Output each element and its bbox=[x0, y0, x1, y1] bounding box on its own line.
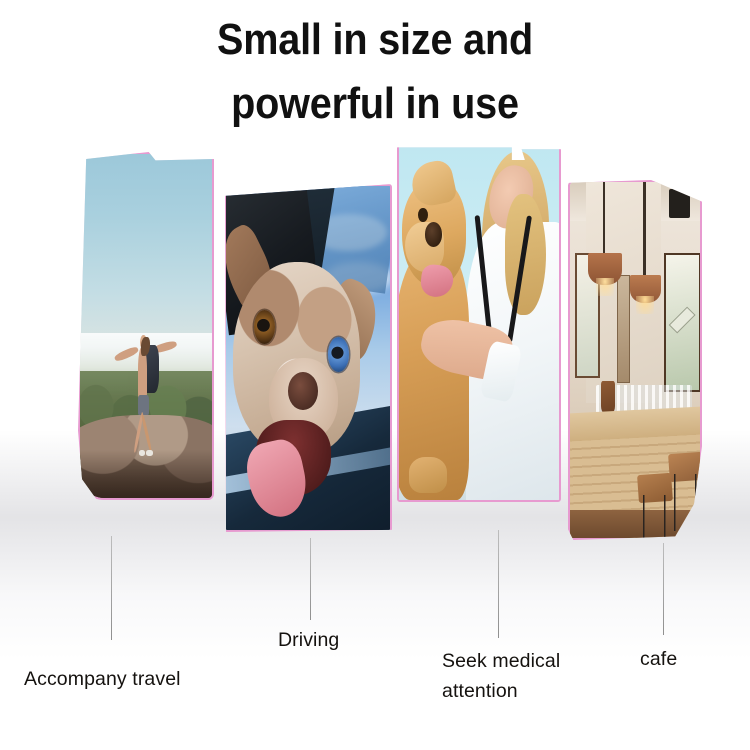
caption-accompany-travel: Accompany travel bbox=[24, 664, 181, 694]
promo-banner: Small in size and powerful in use bbox=[0, 0, 750, 750]
leader-line-accompany-travel bbox=[111, 536, 112, 640]
scene-mountain-hiker bbox=[80, 154, 212, 498]
scene-cafe-interior bbox=[570, 182, 700, 538]
panel-accompany-travel[interactable] bbox=[78, 152, 214, 500]
bar-stool-legs-icon bbox=[640, 495, 669, 538]
copper-jug-icon bbox=[601, 381, 615, 413]
caption-seek-medical-attention: Seek medical attention bbox=[442, 646, 560, 706]
scene-veterinarian bbox=[399, 144, 559, 500]
panel-driving[interactable] bbox=[224, 184, 392, 532]
pendant-cord-icon bbox=[643, 182, 646, 282]
dog-paw-icon bbox=[409, 457, 447, 493]
leader-line-seek-medical-attention bbox=[498, 530, 499, 638]
hiker-shoe-left-icon bbox=[139, 450, 146, 456]
hiker-shorts-icon bbox=[138, 395, 149, 416]
bar-stool-legs-icon bbox=[671, 474, 700, 531]
lamp-glow-icon bbox=[636, 296, 654, 314]
leader-line-driving bbox=[310, 538, 311, 620]
lamp-glow-icon bbox=[596, 278, 614, 296]
leader-line-cafe bbox=[663, 543, 664, 635]
caption-cafe: cafe bbox=[640, 644, 677, 674]
hiker-shoe-right-icon bbox=[146, 450, 153, 456]
ceiling-speaker-icon bbox=[669, 189, 690, 217]
dog-blue-eye-icon bbox=[328, 337, 349, 371]
pendant-cord-icon bbox=[603, 182, 606, 260]
panel-seek-medical-attention[interactable] bbox=[397, 142, 561, 502]
panel-collage bbox=[0, 0, 750, 560]
rock-shadow-icon bbox=[80, 450, 212, 498]
scene-dog-in-car bbox=[226, 186, 390, 530]
dog-nose-icon bbox=[288, 372, 318, 410]
dog-eye-icon bbox=[418, 208, 428, 222]
caption-driving: Driving bbox=[278, 625, 339, 655]
panel-cafe[interactable] bbox=[568, 180, 702, 540]
window-right-icon bbox=[664, 253, 700, 392]
wall-frame-icon bbox=[617, 275, 631, 384]
